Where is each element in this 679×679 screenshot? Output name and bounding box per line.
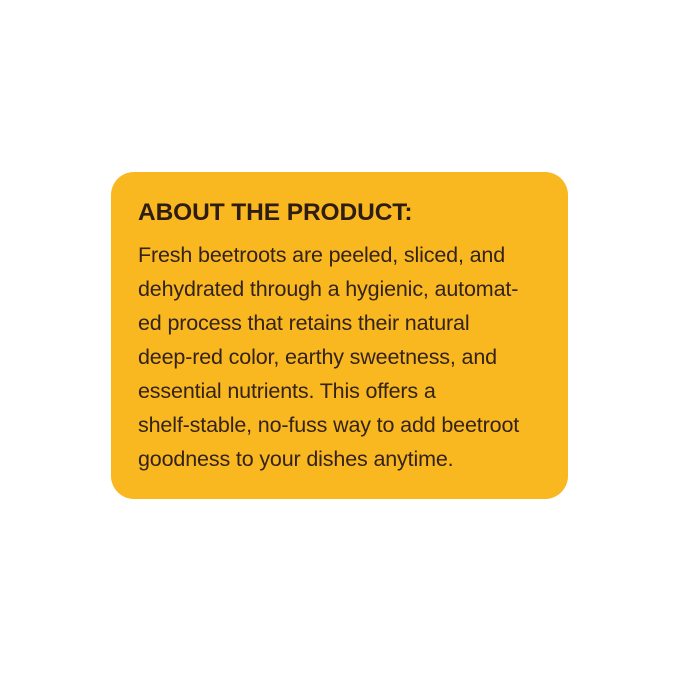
body-line: essential nutrients. This offers a — [138, 374, 544, 408]
body-line: goodness to your dishes anytime. — [138, 442, 544, 476]
body-line: Fresh beetroots are peeled, sliced, and — [138, 238, 544, 272]
card-body-text: Fresh beetroots are peeled, sliced, and … — [138, 228, 544, 476]
body-line: shelf-stable, no-fuss way to add beetroo… — [138, 408, 544, 442]
body-line: ed process that retains their natural — [138, 306, 544, 340]
about-the-product-card: ABOUT THE PRODUCT: Fresh beetroots are p… — [111, 172, 568, 499]
card-heading: ABOUT THE PRODUCT: — [138, 198, 544, 228]
body-line: deep-red color, earthy sweetness, and — [138, 340, 544, 374]
body-line: dehydrated through a hygienic, automat- — [138, 272, 544, 306]
page-canvas: ABOUT THE PRODUCT: Fresh beetroots are p… — [0, 0, 679, 679]
